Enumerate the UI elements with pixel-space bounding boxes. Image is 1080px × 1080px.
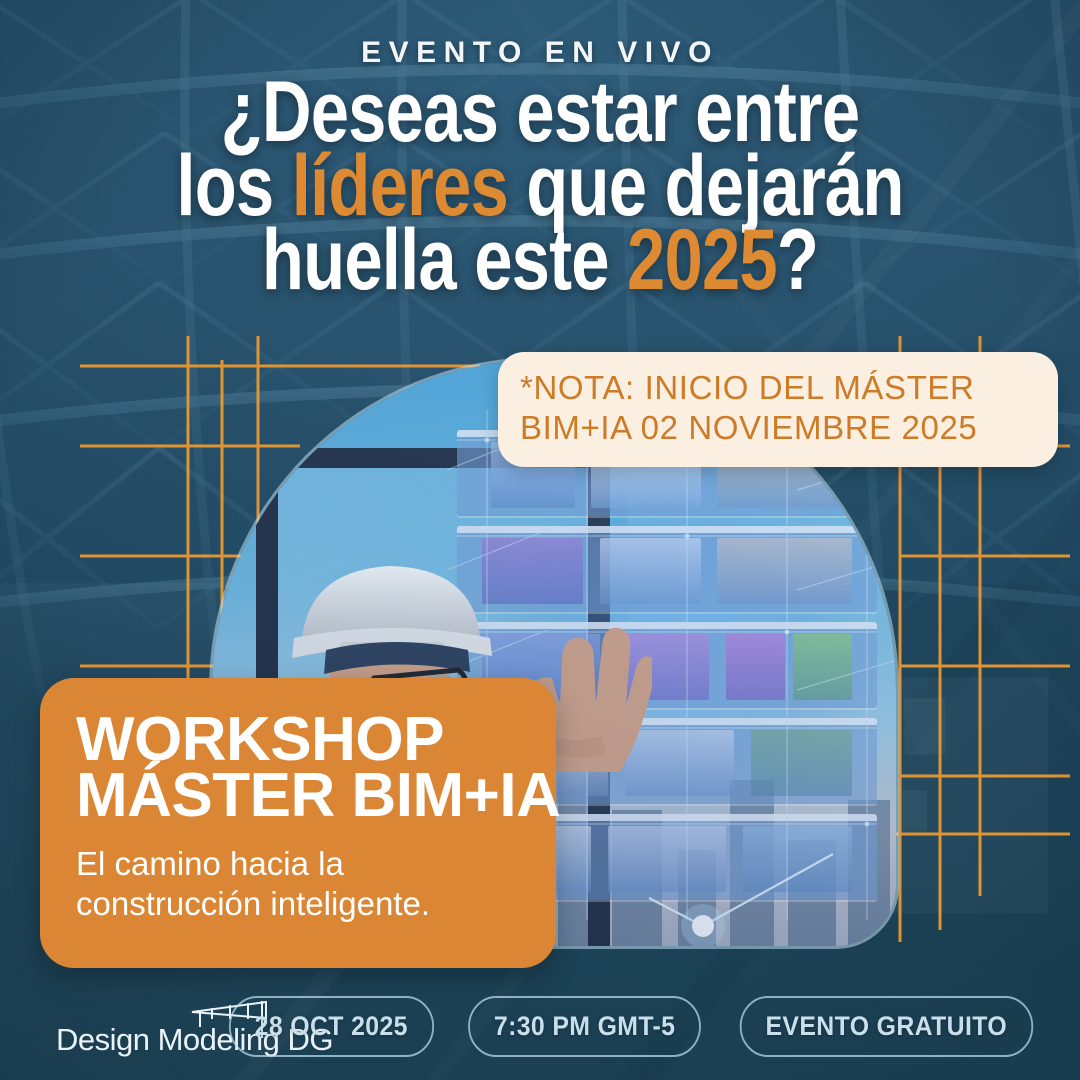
poster: EVENTO EN VIVO ¿Deseas estar entre los l… bbox=[0, 0, 1080, 1080]
note-badge: *NOTA: INICIO DEL MÁSTER BIM+IA 02 NOVIE… bbox=[498, 352, 1058, 467]
note-line-1: *NOTA: INICIO DEL MÁSTER bbox=[520, 368, 1036, 408]
workshop-title-line-2: MÁSTER BIM+IA bbox=[76, 768, 520, 824]
page-title: ¿Deseas estar entre los líderes que deja… bbox=[108, 76, 972, 298]
pill-time[interactable]: 7:30 PM GMT-5 bbox=[468, 996, 701, 1057]
headline-line-3-a: huella este bbox=[262, 212, 627, 308]
workshop-sub-line-2: construcción inteligente. bbox=[76, 884, 520, 924]
pill-price[interactable]: EVENTO GRATUITO bbox=[740, 996, 1033, 1057]
event-info-pills: 28 OCT 2025 7:30 PM GMT-5 EVENTO GRATUIT… bbox=[220, 996, 1046, 1057]
workshop-card: WORKSHOP MÁSTER BIM+IA El camino hacia l… bbox=[40, 678, 556, 968]
headline-line-3: huella este 2025? bbox=[108, 224, 972, 298]
pill-date[interactable]: 28 OCT 2025 bbox=[229, 996, 434, 1057]
headline-line-3-c: ? bbox=[777, 212, 818, 308]
note-line-2: BIM+IA 02 NOVIEMBRE 2025 bbox=[520, 408, 1036, 448]
headline-highlight-2025: 2025 bbox=[627, 212, 777, 308]
workshop-title-line-1: WORKSHOP bbox=[76, 712, 520, 768]
hologram-projection-point bbox=[633, 848, 863, 946]
workshop-card-title: WORKSHOP MÁSTER BIM+IA bbox=[76, 712, 520, 824]
workshop-sub-line-1: El camino hacia la bbox=[76, 844, 520, 884]
workshop-card-subtitle: El camino hacia la construcción intelige… bbox=[76, 844, 520, 925]
